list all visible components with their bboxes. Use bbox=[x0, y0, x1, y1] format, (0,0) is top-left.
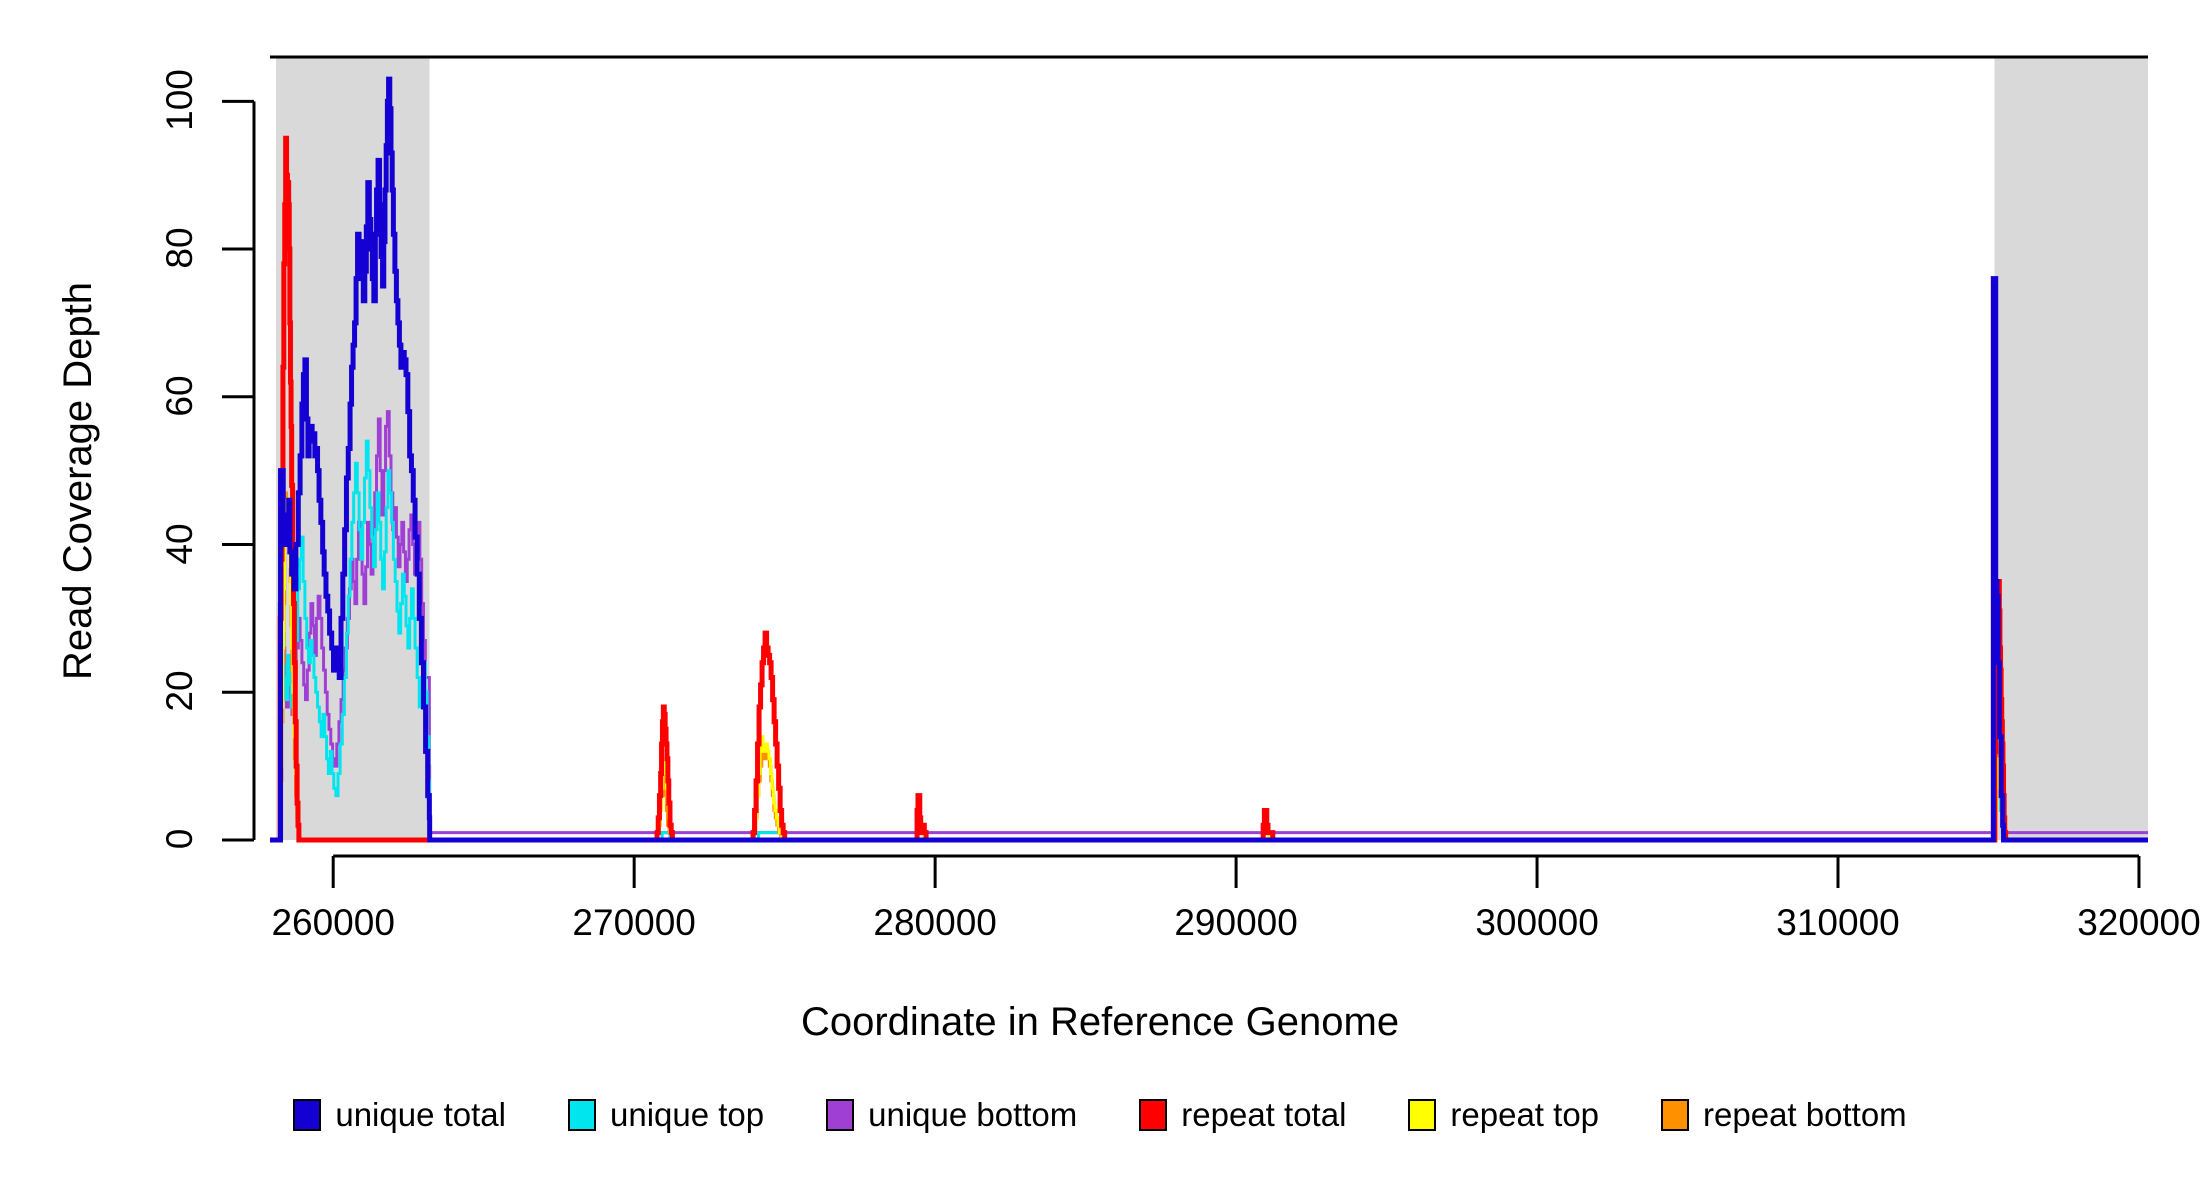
legend-swatch-icon bbox=[293, 1099, 321, 1131]
legend-entry-unique-top[interactable]: unique top bbox=[568, 1096, 764, 1134]
shaded-region-1 bbox=[1995, 57, 2148, 840]
legend-entry-unique-bottom[interactable]: unique bottom bbox=[826, 1096, 1077, 1134]
coverage-depth-figure: Read Coverage Depth Coordinate in Refere… bbox=[0, 0, 2200, 1200]
legend-swatch-icon bbox=[1408, 1099, 1436, 1131]
y-tick-label: 0 bbox=[159, 799, 201, 879]
y-tick-label: 80 bbox=[159, 208, 201, 288]
y-tick-label: 60 bbox=[159, 356, 201, 436]
x-tick-label: 280000 bbox=[873, 902, 996, 944]
x-tick-label: 260000 bbox=[271, 902, 394, 944]
x-tick-label: 320000 bbox=[2077, 902, 2200, 944]
legend-swatch-icon bbox=[826, 1099, 854, 1131]
series-unique-top bbox=[270, 441, 2148, 840]
series-unique-bottom bbox=[270, 412, 2148, 840]
legend-entry-unique-total[interactable]: unique total bbox=[293, 1096, 506, 1134]
legend-label: repeat bottom bbox=[1703, 1096, 1907, 1134]
shaded-region-0 bbox=[276, 57, 429, 840]
series-repeat-total bbox=[270, 138, 2148, 840]
legend-label: unique bottom bbox=[868, 1096, 1077, 1134]
legend-entry-repeat-total[interactable]: repeat total bbox=[1139, 1096, 1346, 1134]
legend-swatch-icon bbox=[1139, 1099, 1167, 1131]
series-repeat-bottom bbox=[270, 493, 2148, 840]
x-tick-label: 270000 bbox=[572, 902, 695, 944]
legend-swatch-icon bbox=[1661, 1099, 1689, 1131]
y-tick-label: 40 bbox=[159, 504, 201, 584]
x-tick-label: 290000 bbox=[1174, 902, 1297, 944]
x-tick-label: 310000 bbox=[1776, 902, 1899, 944]
x-axis-title: Coordinate in Reference Genome bbox=[0, 1000, 2200, 1045]
legend-label: repeat top bbox=[1450, 1096, 1599, 1134]
legend-label: unique top bbox=[610, 1096, 764, 1134]
series-unique-total bbox=[270, 79, 2148, 840]
series-repeat-top bbox=[270, 500, 2148, 840]
legend-label: repeat total bbox=[1181, 1096, 1346, 1134]
legend-label: unique total bbox=[335, 1096, 506, 1134]
legend-entry-repeat-bottom[interactable]: repeat bottom bbox=[1661, 1096, 1907, 1134]
y-tick-label: 100 bbox=[159, 60, 201, 140]
x-tick-label: 300000 bbox=[1475, 902, 1598, 944]
legend-swatch-icon bbox=[568, 1099, 596, 1131]
y-tick-label: 20 bbox=[159, 651, 201, 731]
y-axis-title: Read Coverage Depth bbox=[56, 282, 101, 680]
chart-legend: unique totalunique topunique bottomrepea… bbox=[0, 1096, 2200, 1134]
legend-entry-repeat-top[interactable]: repeat top bbox=[1408, 1096, 1599, 1134]
